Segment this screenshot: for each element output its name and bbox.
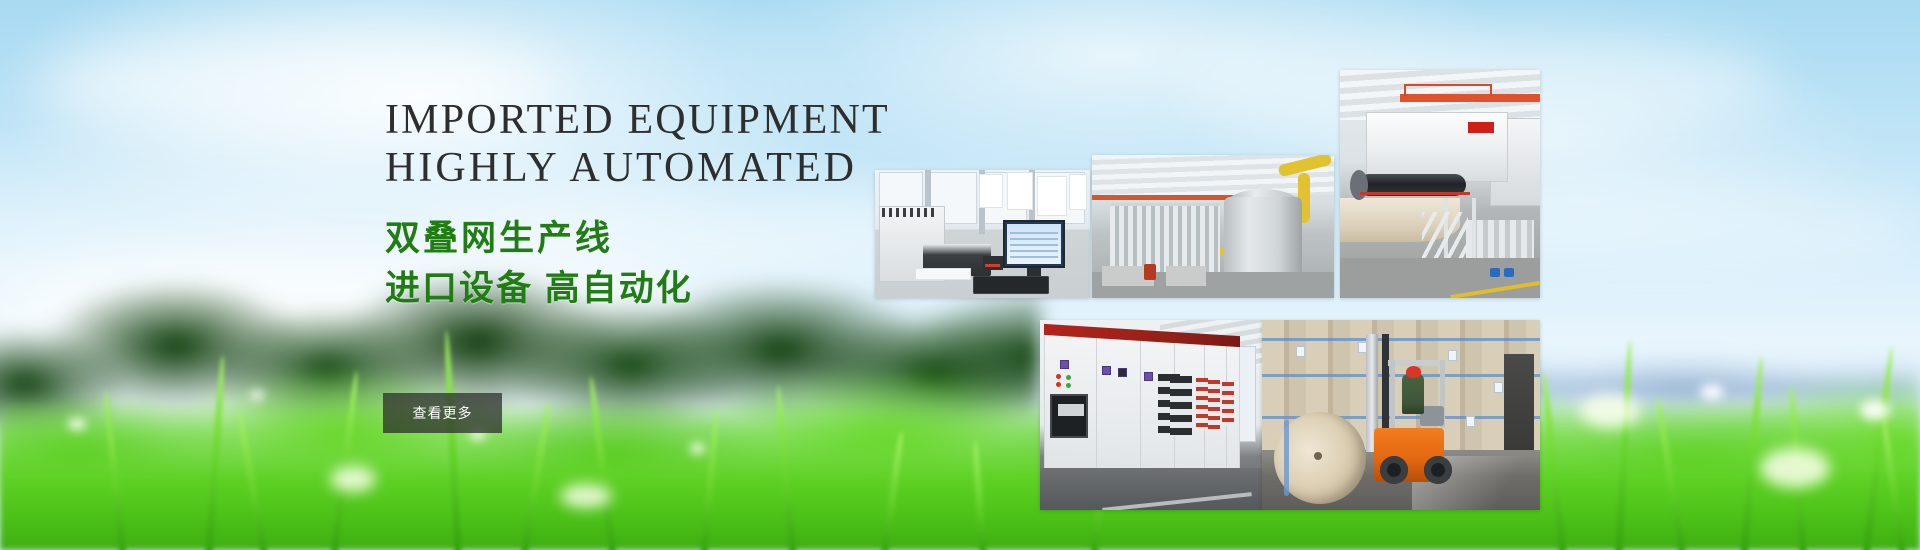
indicator-led (1066, 375, 1071, 380)
factory-floor (1340, 258, 1540, 298)
red-accent-line (1360, 192, 1470, 195)
concrete-pad (1166, 266, 1206, 286)
forklift-guard-post (1390, 360, 1395, 428)
keyboard (973, 276, 1049, 294)
machine-logo (1468, 122, 1494, 133)
white-flower (68, 418, 86, 430)
headline-line-1: IMPORTED EQUIPMENT (385, 96, 855, 144)
subtitle-line-1: 双叠网生产线 (385, 214, 855, 264)
switchgear-panel-photo[interactable] (1040, 320, 1262, 510)
crane-beam (1092, 195, 1242, 200)
reel-end (1350, 170, 1368, 200)
roll-label (1296, 346, 1305, 357)
hero-banner: IMPORTED EQUIPMENT HIGHLY AUTOMATED 双叠网生… (0, 0, 1920, 550)
control-room-scene (875, 170, 1090, 298)
forklift-overhead-guard (1388, 360, 1446, 366)
white-flower (560, 484, 612, 508)
pulping-equipment-photo[interactable] (1092, 155, 1334, 298)
roll-band (1262, 374, 1540, 377)
forklift-wheel (1380, 456, 1408, 484)
control-room-photo[interactable] (875, 170, 1090, 298)
driver-helmet (1406, 366, 1421, 378)
roll-label (1448, 350, 1457, 361)
view-more-button[interactable]: 查看更多 (383, 393, 502, 433)
hero-copy: IMPORTED EQUIPMENT HIGHLY AUTOMATED 双叠网生… (385, 96, 855, 314)
paper-machine-photo[interactable] (1340, 70, 1540, 298)
panel-meter (1144, 372, 1153, 381)
main-breaker (1050, 394, 1088, 438)
page-title: IMPORTED EQUIPMENT HIGHLY AUTOMATED (385, 96, 855, 192)
indicator-led (1066, 383, 1071, 388)
screen-rack (1110, 203, 1220, 275)
panel-meter (1102, 366, 1111, 375)
white-flower (250, 390, 264, 400)
document-sheet (1069, 174, 1087, 210)
paper-machine-scene (1340, 70, 1540, 298)
document-sheet (1007, 172, 1033, 210)
panel-meter (1118, 368, 1127, 377)
red-bucket (1144, 264, 1156, 280)
white-flower (1860, 400, 1890, 420)
roll-band (1284, 420, 1289, 496)
monitor (1003, 220, 1065, 268)
forklift-warehouse-photo[interactable] (1262, 320, 1540, 510)
switch-strip (1222, 382, 1234, 426)
forklift-wheel (1424, 456, 1452, 484)
warehouse-door (1504, 354, 1534, 450)
document-sheet (1037, 176, 1067, 216)
crane-railing (1404, 84, 1492, 96)
blue-drum (1490, 268, 1500, 277)
roll-band (1262, 338, 1540, 341)
monitor-screen (1007, 224, 1061, 264)
control-box (983, 256, 1003, 270)
roll-label (1466, 416, 1475, 427)
control-knobs (882, 208, 938, 217)
indicator-led (1056, 382, 1061, 387)
white-flower (690, 443, 705, 454)
pulping-scene (1092, 155, 1334, 298)
subtitle-line-2: 进口设备 高自动化 (385, 264, 855, 314)
switch-strip (1196, 378, 1208, 430)
switchgear-scene (1040, 320, 1262, 510)
forklift-driver (1402, 374, 1424, 414)
switch-strip (1208, 380, 1220, 430)
subtitle: 双叠网生产线 进口设备 高自动化 (385, 214, 855, 314)
indicator-led (1056, 374, 1061, 379)
white-flower (330, 466, 376, 492)
white-flower (1760, 448, 1830, 488)
warehouse-scene (1262, 320, 1540, 510)
panel-meter (1060, 360, 1069, 369)
blue-drum (1504, 268, 1514, 277)
document-sheet (979, 174, 1003, 208)
paper-tray (915, 268, 971, 280)
roll-label (1494, 382, 1503, 393)
switch-column (1170, 376, 1192, 436)
headline-line-2: HIGHLY AUTOMATED (385, 144, 855, 192)
white-flower (1700, 384, 1724, 400)
white-flower (1580, 394, 1640, 428)
